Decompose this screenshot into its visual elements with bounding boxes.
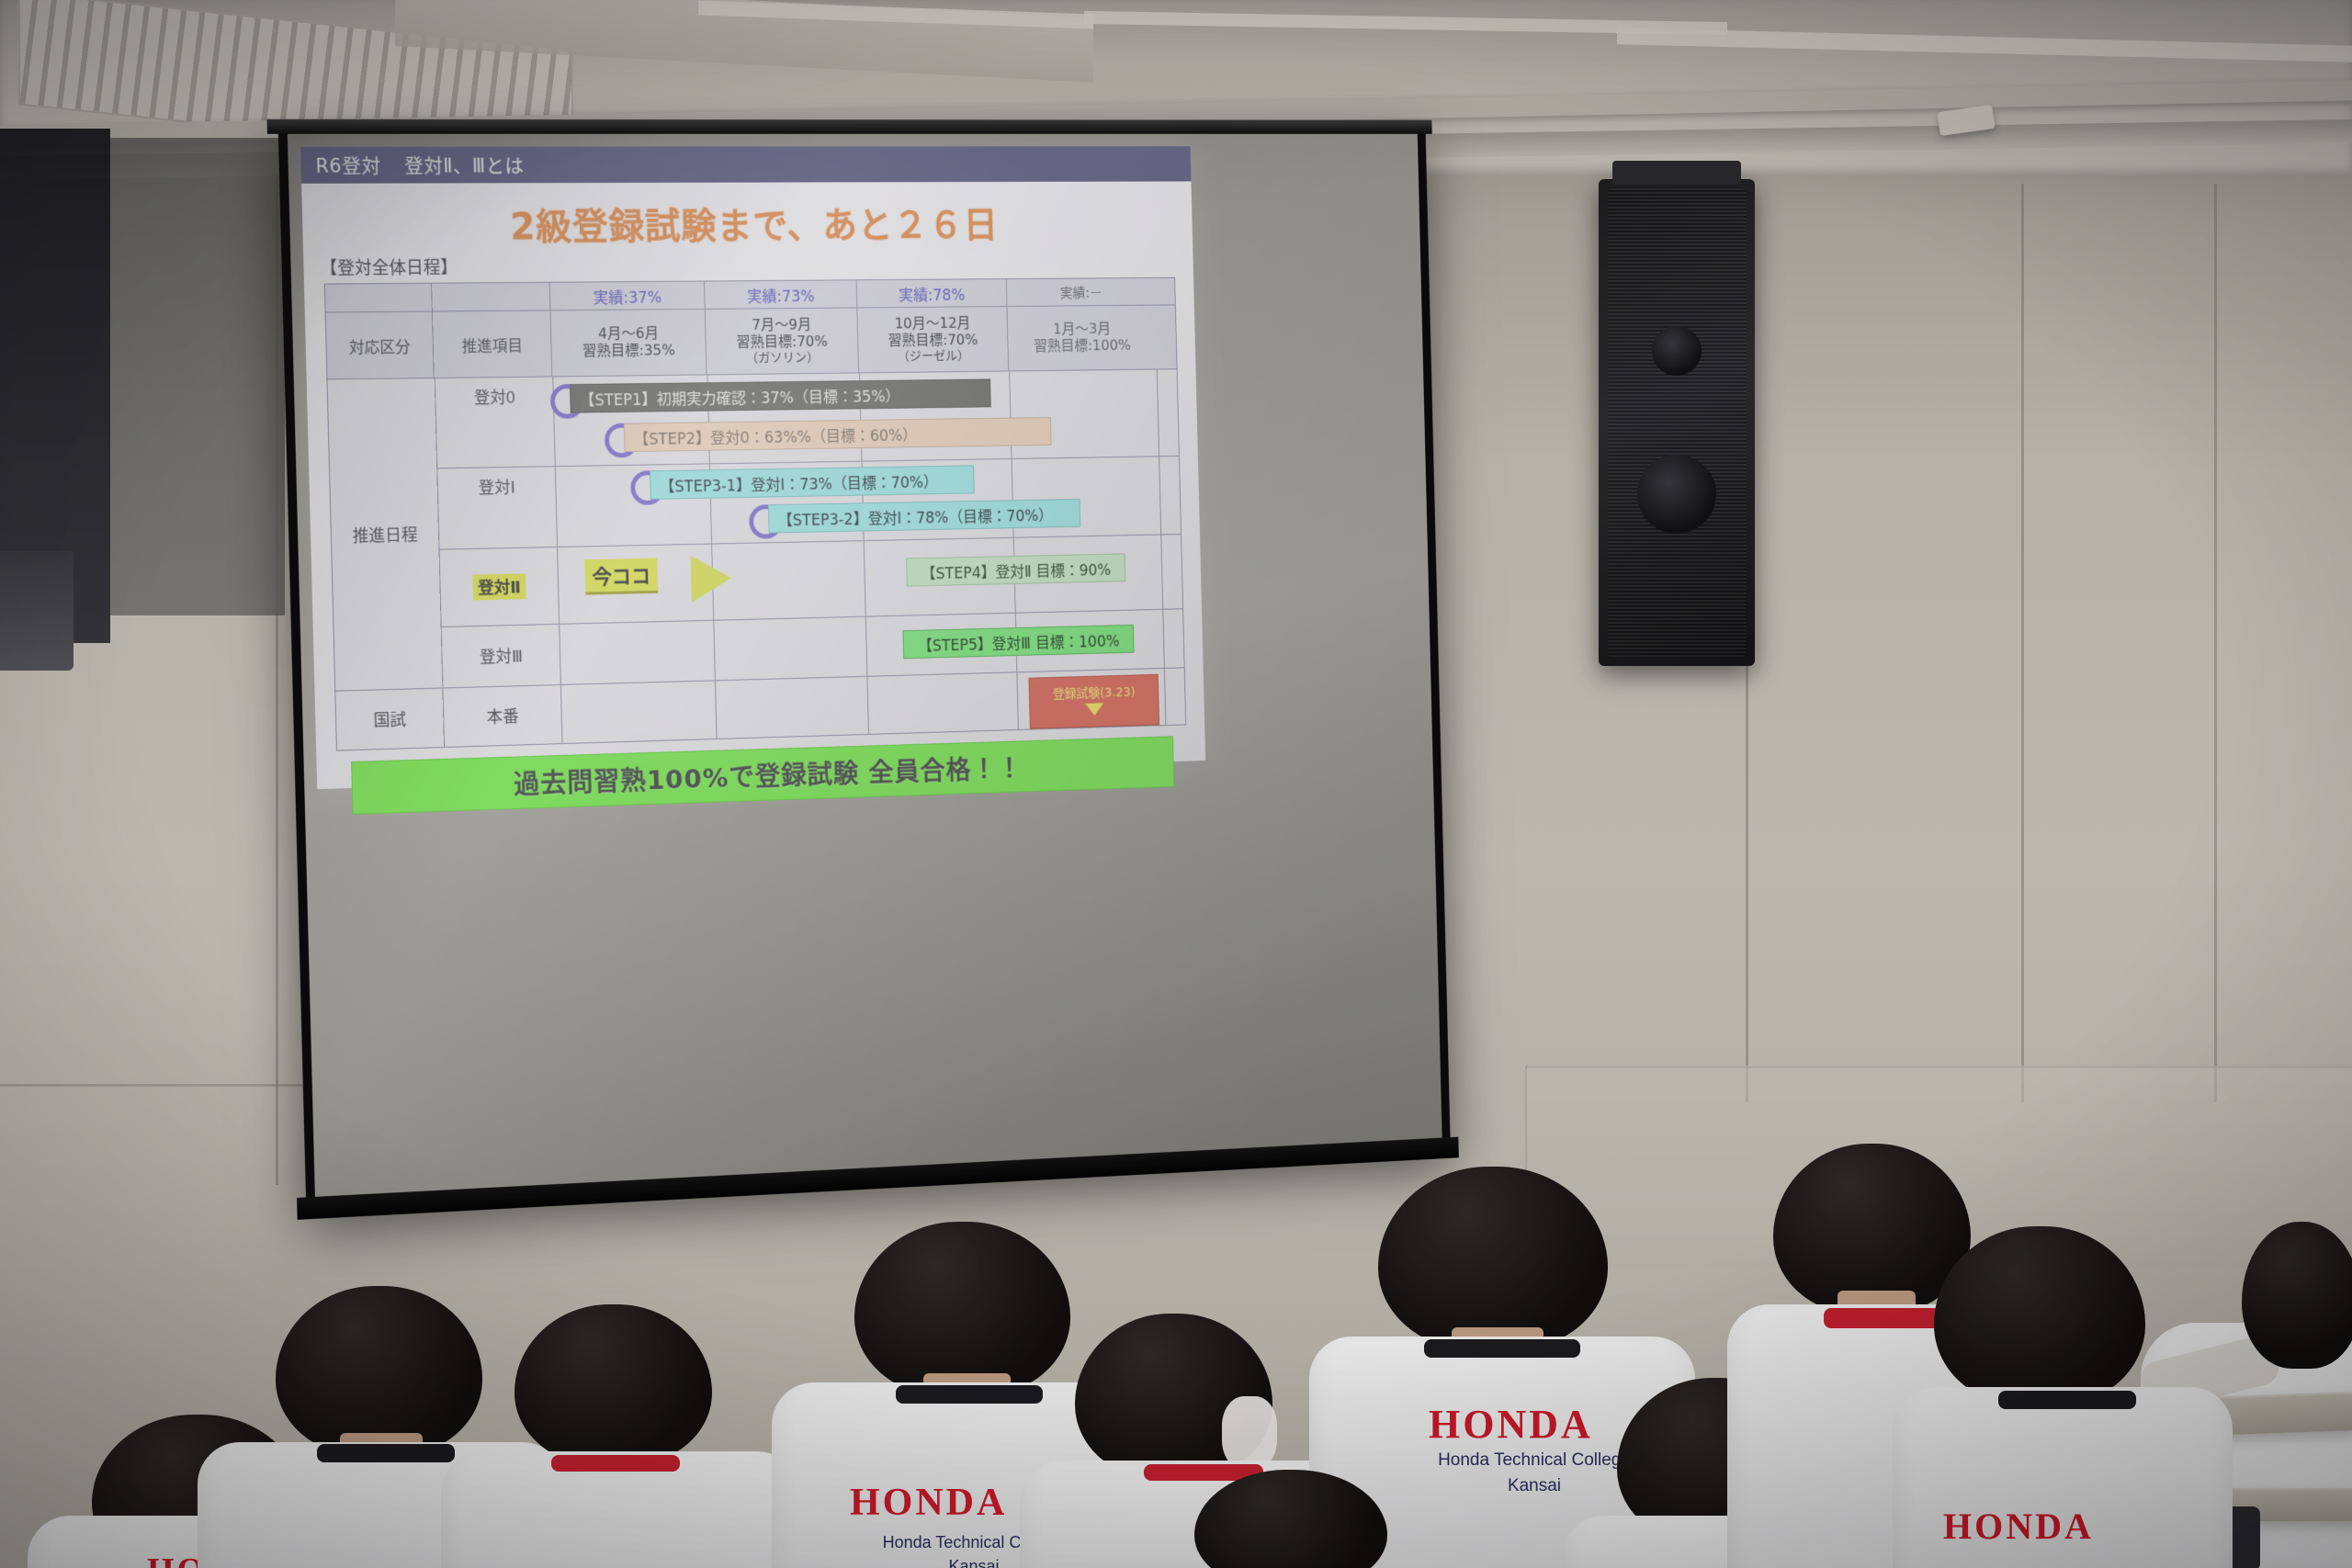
person-2-head (276, 1286, 482, 1456)
wall-seam-horizontal (0, 1084, 303, 1087)
period-q3: 10月～12月 (888, 315, 978, 333)
header-spacer-division (325, 284, 433, 312)
wall-seam (2021, 184, 2024, 1102)
slide-subtitle: 【登対全体日程】 (320, 250, 1193, 280)
person-11-head (2242, 1222, 2352, 1369)
projected-slide: R6登対 登対Ⅱ、Ⅲとは 2級登録試験まで、あと２６日 【登対全体日程】 実績:… (300, 146, 1205, 789)
header-division: 対応区分 (326, 312, 435, 379)
row-track-toutai1: 【STEP3-1】登対Ⅰ：73%（目標：70%） 【STEP3-2】登対Ⅰ：78… (556, 457, 1181, 547)
goal-q2: 習熟目標:70% (736, 333, 828, 351)
exam-date-label: 登録試験(3.23) (1053, 686, 1136, 702)
person-6-collar (1424, 1339, 1580, 1358)
exam-arrow-down-icon (1085, 703, 1104, 716)
header-spacer-item (432, 283, 550, 311)
row-label-toutai2-highlight: 登対Ⅱ (472, 573, 526, 600)
goal-q1: 習熟目標:35% (582, 343, 675, 361)
note-q3: （ジーゼル） (888, 348, 978, 364)
goal-banner: 過去問習熟100%で登録試験 全員合格！！ (351, 736, 1174, 815)
header-period-q1: 4月～6月 習熟目標:35% (550, 310, 707, 377)
period-q2: 7月～9月 (736, 316, 828, 333)
bar-step3-1: 【STEP3-1】登対Ⅰ：73%（目標：70%） (650, 465, 975, 499)
header-item: 推進項目 (433, 310, 552, 378)
row-track-toutai0: 【STEP1】初期実力確認：37%（目標：35%） 【STEP2】登対0：63%… (553, 369, 1179, 466)
exam-date-badge: 登録試験(3.23) (1028, 674, 1159, 729)
person-4-collar (896, 1385, 1043, 1404)
classroom-scene: R6登対 登対Ⅱ、Ⅲとは 2級登録試験まで、あと２６日 【登対全体日程】 実績:… (0, 0, 2352, 1568)
group-rows-promotion: 登対0 【STEP1】初期実力確認：37%（目標：35%） 【 (435, 369, 1184, 687)
header-actual-q3: 実績:78% (857, 279, 1008, 307)
cell-q3 (867, 672, 1018, 734)
screen-surface: R6登対 登対Ⅱ、Ⅲとは 2級登録試験まで、あと２６日 【登対全体日程】 実績:… (288, 134, 1442, 1201)
wall-speaker-right (1599, 179, 1755, 666)
row-label-toutai0: 登対0 (435, 377, 556, 468)
speaker-tweeter (1652, 326, 1702, 376)
projection-screen: R6登対 登対Ⅱ、Ⅲとは 2級登録試験まで、あと２６日 【登対全体日程】 実績:… (278, 127, 1451, 1211)
person-3-collar (551, 1455, 680, 1472)
note-q2: （ガソリン） (737, 350, 829, 366)
header-period-q2: 7月～9月 習熟目標:70% （ガソリン） (706, 308, 859, 374)
person-9-collar (1998, 1391, 2136, 1409)
slide-header-band: R6登対 登対Ⅱ、Ⅲとは (300, 146, 1191, 184)
slide-title: 2級登録試験まで、あと２６日 (302, 196, 1193, 252)
person-6-honda-logo: HONDA (1429, 1401, 1593, 1448)
row-label-toutai2: 登対Ⅱ (440, 547, 560, 626)
now-here-arrow-icon (691, 555, 732, 603)
person-6-head (1378, 1167, 1608, 1350)
header-actual-q1: 実績:37% (550, 282, 706, 310)
slide-header-topic: 登対Ⅱ、Ⅲとは (404, 152, 525, 179)
person-4-head (854, 1222, 1070, 1396)
row-label-toutai1: 登対Ⅰ (437, 467, 558, 548)
schedule-table: 実績:37% 実績:73% 実績:78% 実績:－ 対応区分 推進項目 4月～6… (324, 277, 1186, 751)
person-9-head (1934, 1226, 2145, 1405)
person-5-face-mask (1222, 1396, 1277, 1470)
person-9-honda-logo: HONDA (1943, 1505, 2094, 1548)
bar-step4: 【STEP4】登対Ⅱ 目標：90% (906, 553, 1125, 586)
group-label-promotion: 推進日程 (327, 378, 443, 691)
wall-seam (2214, 184, 2217, 1102)
table-row-toutai1: 登対Ⅰ 【STEP3-1】登対Ⅰ：73%（目標：70%） 【S (437, 457, 1181, 550)
row-label-honban: 本番 (443, 685, 562, 747)
row-track-toutai2: 今ココ 【STEP4】登対Ⅱ 目標：90% (558, 535, 1182, 624)
wall-recess-left (110, 138, 285, 615)
speaker-cone (1637, 455, 1716, 534)
now-here-label: 今ココ (584, 558, 658, 595)
speaker-mount (1612, 161, 1741, 185)
left-speaker-box (0, 551, 73, 671)
screen-roller (266, 119, 1431, 134)
cell-q1 (561, 681, 718, 743)
header-period-q3: 10月～12月 習熟目標:70% （ジーゼル） (857, 307, 1009, 372)
slide-header-code: R6登対 (315, 152, 381, 179)
goal-q3: 習熟目標:70% (888, 332, 978, 349)
cell-q1 (560, 621, 716, 684)
person-4-honda-logo: HONDA (850, 1481, 1007, 1525)
person-8-collar (1824, 1308, 1952, 1328)
group-label-national-exam: 国試 (335, 688, 445, 750)
row-label-toutai3: 登対Ⅲ (442, 625, 561, 688)
cell-q2 (714, 617, 867, 681)
cell-q2 (712, 541, 866, 620)
table-row-toutai0: 登対0 【STEP1】初期実力確認：37%（目標：35%） 【 (435, 369, 1179, 468)
header-actual-q2: 実績:73% (705, 280, 857, 309)
table-header-main-row: 対応区分 推進項目 4月～6月 習熟目標:35% 7月～9月 習熟目標:70% (326, 305, 1177, 379)
goal-q4: 習熟目標:100% (1034, 337, 1131, 355)
person-3-head (514, 1304, 712, 1465)
person-2-collar (317, 1444, 455, 1462)
group-promotion-schedule: 推進日程 登対0 (327, 369, 1183, 691)
period-q1: 4月～6月 (582, 325, 674, 344)
header-actual-q4: 実績:－ (1007, 278, 1155, 306)
header-period-q4: 1月～3月 習熟目標:100% (1007, 306, 1156, 371)
bar-step1: 【STEP1】初期実力確認：37%（目標：35%） (570, 378, 991, 412)
cell-q2 (716, 677, 869, 739)
speaker-grill (1608, 188, 1746, 657)
